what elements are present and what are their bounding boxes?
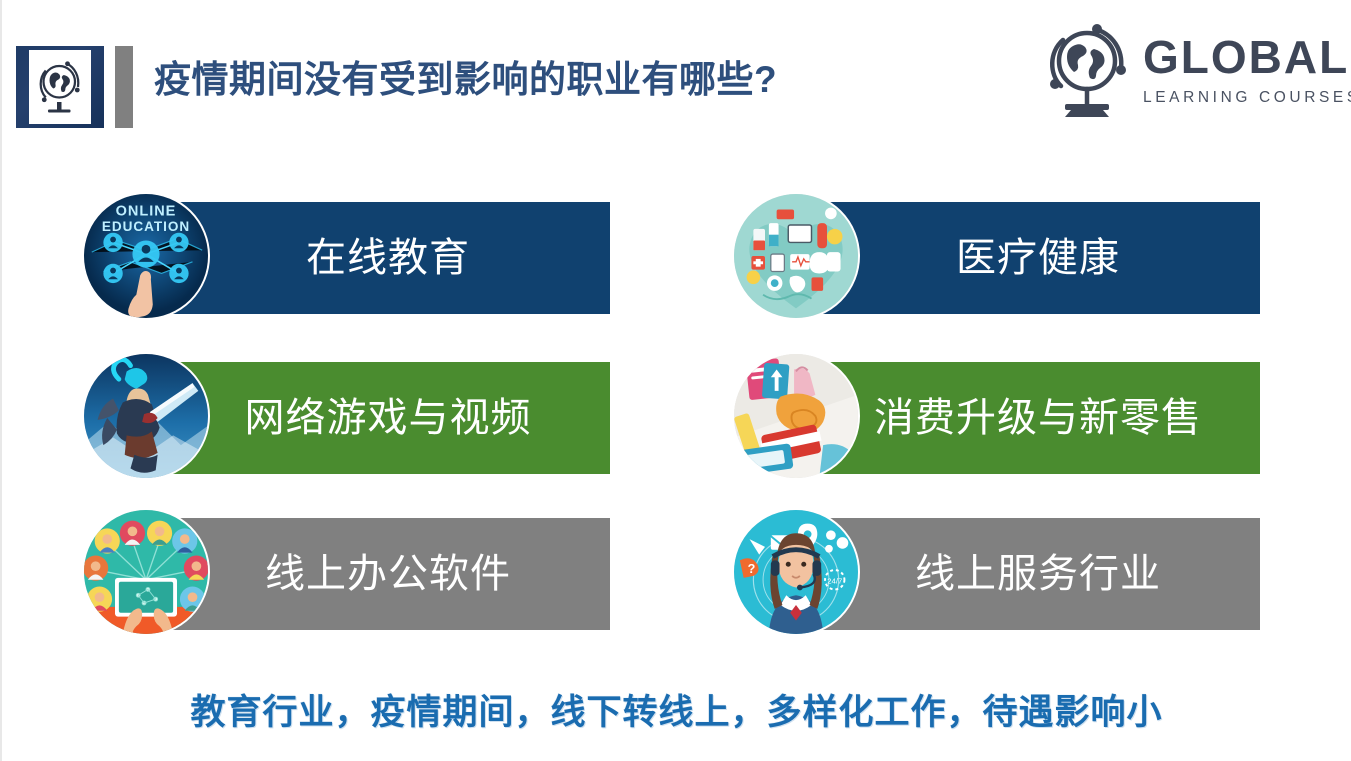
item-banner[interactable]: 消费升级与新零售 — [790, 362, 1260, 474]
globe-stand-icon — [36, 58, 84, 116]
brand-logo: GLOBAL LEARNING COURSES — [1037, 14, 1337, 126]
item-label: 线上服务行业 — [889, 554, 1161, 594]
page-title: 疫情期间没有受到影响的职业有哪些? — [154, 58, 777, 102]
list-item[interactable]: 线上办公软件 — [82, 508, 610, 638]
item-label: 线上办公软件 — [239, 554, 511, 594]
online-office-collaboration-icon — [82, 508, 210, 636]
shopping-retail-icon — [732, 352, 860, 480]
item-banner[interactable]: 在线教育 — [140, 202, 610, 314]
list-item[interactable]: 网络游戏与视频 — [82, 352, 610, 482]
brand-tagline: LEARNING COURSES — [1143, 89, 1351, 107]
item-banner[interactable]: 医疗健康 — [790, 202, 1260, 314]
globe-stand-icon — [1037, 18, 1133, 122]
item-label: 在线教育 — [280, 238, 470, 278]
list-item[interactable]: 消费升级与新零售 — [732, 352, 1260, 482]
svg-text:?: ? — [748, 562, 756, 576]
online-education-network-icon: ONLINE EDUCATION — [82, 192, 210, 320]
item-label: 网络游戏与视频 — [219, 398, 532, 438]
item-banner[interactable]: 线上服务行业 — [790, 518, 1260, 630]
header-accent-bar — [115, 46, 133, 128]
svg-text:ONLINE: ONLINE — [116, 203, 177, 219]
item-label: 医疗健康 — [930, 238, 1120, 278]
item-label: 消费升级与新零售 — [848, 398, 1202, 438]
medical-health-icons-icon — [732, 192, 860, 320]
svg-text:EDUCATION: EDUCATION — [102, 219, 190, 234]
online-service-agent-icon: 24/7 ? — [732, 508, 860, 636]
list-item[interactable]: 在线教育 — [82, 192, 610, 322]
list-item[interactable]: 线上服务行业 24/7 — [732, 508, 1260, 638]
summary-caption: 教育行业，疫情期间，线下转线上，多样化工作，待遇影响小 — [2, 684, 1351, 735]
brand-name: GLOBAL — [1143, 34, 1351, 80]
header-logo-inner-frame — [29, 50, 91, 124]
svg-text:24/7: 24/7 — [827, 577, 842, 586]
slide-canvas: 疫情期间没有受到影响的职业有哪些? — [0, 0, 1351, 761]
online-game-warrior-icon — [82, 352, 210, 480]
brand-wordmark: GLOBAL LEARNING COURSES — [1143, 34, 1351, 107]
item-banner[interactable]: 线上办公软件 — [140, 518, 610, 630]
list-item[interactable]: 医疗健康 — [732, 192, 1260, 322]
header-logo-badge — [16, 46, 104, 128]
item-banner[interactable]: 网络游戏与视频 — [140, 362, 610, 474]
